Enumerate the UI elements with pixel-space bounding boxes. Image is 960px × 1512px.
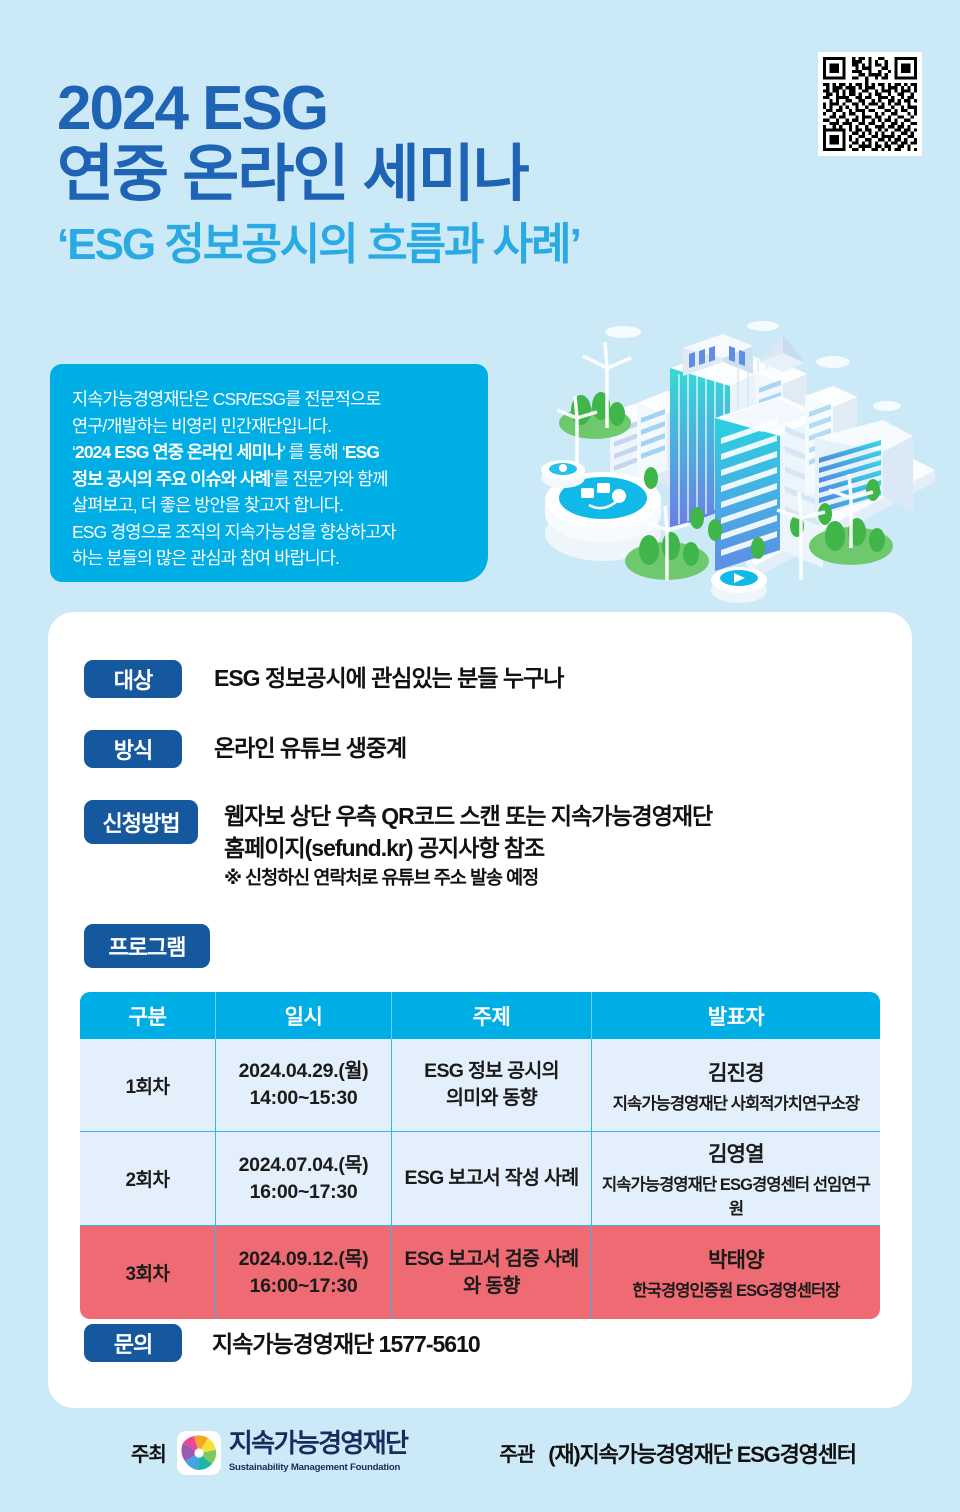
intro-connector: ’ 를 통해 ‘ [282, 442, 345, 462]
session-no: 2회차 [84, 1165, 211, 1192]
info-method-value: 온라인 유튜브 생중계 [214, 732, 406, 764]
cell-date: 2024.09.12.(목) 16:00~17:30 [216, 1226, 392, 1319]
footer-host-group: 주최 지속가능경영재단 Sustainability Management Fo… [131, 1430, 407, 1475]
session-no: 1회차 [84, 1072, 211, 1099]
organizer-name: (재)지속가능경영재단 ESG경영센터 [548, 1437, 856, 1469]
intro-topic-rest: 정보 공시의 주요 이슈와 사례 [72, 469, 270, 489]
info-target-value-wrap: ESG 정보공시에 관심있는 분들 누구나 [214, 660, 563, 694]
session-topic-line1: ESG 보고서 검증 사례와 동향 [396, 1246, 587, 1300]
cell-speaker: 김진경 지속가능경영재단 사회적가치연구소장 [592, 1039, 880, 1132]
info-row-apply: 신청방법 웹자보 상단 우측 QR코드 스캔 또는 지속가능경영재단 홈페이지(… [84, 800, 712, 892]
info-target-value: ESG 정보공시에 관심있는 분들 누구나 [214, 662, 563, 694]
cell-session-no: 1회차 [80, 1039, 216, 1132]
intro-line: ESG 경영으로 조직의 지속가능성을 향상하고자 [72, 519, 468, 546]
cell-topic: ESG 보고서 검증 사례와 동향 [392, 1226, 592, 1319]
details-card: 대상 ESG 정보공시에 관심있는 분들 누구나 방식 온라인 유튜브 생중계 … [48, 612, 912, 1408]
column-header-topic: 주제 [392, 992, 592, 1039]
qr-code[interactable] [818, 52, 922, 156]
intro-line-emphasis: ‘2024 ESG 연중 온라인 세미나’ 를 통해 ‘ESG [72, 439, 468, 466]
table-row: 2회차 2024.07.04.(목) 16:00~17:30 ESG 보고서 작… [80, 1132, 880, 1226]
info-row-contact: 문의 지속가능경영재단 1577-5610 [84, 1324, 480, 1362]
cell-date: 2024.04.29.(월) 14:00~15:30 [216, 1039, 392, 1132]
session-topic-line2: 의미와 동향 [396, 1085, 587, 1112]
column-header-no: 구분 [80, 992, 216, 1039]
footer: 주최 지속가능경영재단 Sustainability Management Fo… [0, 1430, 960, 1475]
speaker-affiliation: 한국경영인증원 ESG경영센터장 [596, 1277, 876, 1301]
foundation-logo-text: 지속가능경영재단 Sustainability Management Found… [229, 1430, 408, 1475]
table-row: 1회차 2024.04.29.(월) 14:00~15:30 ESG 정보 공시… [80, 1039, 880, 1132]
intro-box: 지속가능경영재단은 CSR/ESG를 전문적으로 연구/개발하는 비영리 민간재… [50, 364, 488, 582]
intro-line: 살펴보고, 더 좋은 방안을 찾고자 합니다. [72, 492, 468, 519]
footer-organizer-group: 주관 (재)지속가능경영재단 ESG경영센터 [499, 1437, 855, 1469]
title-line-2: 연중 온라인 세미나 [57, 142, 580, 208]
cell-session-no: 2회차 [80, 1132, 216, 1226]
badge-contact: 문의 [84, 1324, 182, 1362]
intro-line: 하는 분들의 많은 관심과 참여 바랍니다. [72, 545, 468, 572]
intro-seminar-name: 2024 ESG 연중 온라인 세미나 [75, 442, 282, 462]
badge-apply: 신청방법 [84, 800, 198, 844]
session-topic-line1: ESG 정보 공시의 [396, 1058, 587, 1085]
table-row-highlighted: 3회차 2024.09.12.(목) 16:00~17:30 ESG 보고서 검… [80, 1226, 880, 1319]
badge-target: 대상 [84, 660, 182, 698]
smart-city-illustration [515, 318, 945, 608]
session-no: 3회차 [84, 1259, 211, 1286]
info-contact-value-wrap: 지속가능경영재단 1577-5610 [212, 1324, 480, 1360]
info-apply-line2: 홈페이지(sefund.kr) 공지사항 참조 [224, 832, 712, 864]
session-time: 16:00~17:30 [220, 1273, 387, 1300]
cell-speaker: 김영열 지속가능경영재단 ESG경영센터 선임연구원 [592, 1132, 880, 1226]
foundation-name-ko: 지속가능경영재단 [229, 1428, 408, 1458]
column-header-date: 일시 [216, 992, 392, 1039]
speaker-affiliation: 지속가능경영재단 사회적가치연구소장 [596, 1090, 876, 1114]
session-date: 2024.09.12.(목) [220, 1246, 387, 1273]
speaker-name: 김영열 [596, 1138, 876, 1168]
foundation-name-en: Sustainability Management Foundation [229, 1462, 400, 1473]
poster-root: 2024 ESG 연중 온라인 세미나 ‘ESG 정보공시의 흐름과 사례’ 지… [0, 0, 960, 1512]
pinwheel-flower-icon [177, 1431, 221, 1475]
isometric-city-icon [515, 318, 945, 608]
session-date: 2024.07.04.(목) [220, 1152, 387, 1179]
info-contact-value: 지속가능경영재단 1577-5610 [212, 1328, 480, 1360]
badge-method: 방식 [84, 730, 182, 768]
cell-session-no: 3회차 [80, 1226, 216, 1319]
intro-topic-head: ESG [345, 442, 379, 462]
intro-line-emphasis: 정보 공시의 주요 이슈와 사례’를 전문가와 함께 [72, 466, 468, 493]
speaker-name: 김진경 [596, 1057, 876, 1087]
info-method-value-wrap: 온라인 유튜브 생중계 [214, 730, 406, 764]
table-header-row: 구분 일시 주제 발표자 [80, 992, 880, 1039]
title-line-1: 2024 ESG [57, 76, 580, 142]
page-title: 2024 ESG 연중 온라인 세미나 ‘ESG 정보공시의 흐름과 사례’ [57, 76, 580, 270]
cell-speaker: 박태양 한국경영인증원 ESG경영센터장 [592, 1226, 880, 1319]
session-time: 14:00~15:30 [220, 1085, 387, 1112]
intro-line: 연구/개발하는 비영리 민간재단입니다. [72, 413, 468, 440]
session-topic-line1: ESG 보고서 작성 사례 [396, 1165, 587, 1192]
cell-date: 2024.07.04.(목) 16:00~17:30 [216, 1132, 392, 1226]
info-apply-note: ※ 신청하신 연락처로 유튜브 주소 발송 예정 [224, 864, 712, 892]
column-header-speaker: 발표자 [592, 992, 880, 1039]
program-table: 구분 일시 주제 발표자 1회차 2024.04.29.(월) 14:00~15… [80, 992, 880, 1319]
info-apply-value-wrap: 웹자보 상단 우측 QR코드 스캔 또는 지속가능경영재단 홈페이지(sefun… [224, 800, 712, 892]
intro-line: 지속가능경영재단은 CSR/ESG를 전문적으로 [72, 386, 468, 413]
organizer-label: 주관 [499, 1438, 534, 1467]
info-row-method: 방식 온라인 유튜브 생중계 [84, 730, 406, 768]
cell-topic: ESG 보고서 작성 사례 [392, 1132, 592, 1226]
intro-topic-tail: ’를 전문가와 함께 [270, 469, 387, 489]
cell-topic: ESG 정보 공시의 의미와 동향 [392, 1039, 592, 1132]
page-subtitle: ‘ESG 정보공시의 흐름과 사례’ [57, 220, 580, 270]
host-label: 주최 [131, 1438, 166, 1467]
session-date: 2024.04.29.(월) [220, 1058, 387, 1085]
speaker-affiliation: 지속가능경영재단 ESG경영센터 선임연구원 [596, 1171, 876, 1219]
foundation-logo-icon [177, 1431, 221, 1475]
qr-code-icon [823, 57, 917, 151]
badge-program: 프로그램 [84, 924, 210, 968]
info-apply-line1: 웹자보 상단 우측 QR코드 스캔 또는 지속가능경영재단 [224, 800, 712, 832]
info-row-target: 대상 ESG 정보공시에 관심있는 분들 누구나 [84, 660, 563, 698]
speaker-name: 박태양 [596, 1244, 876, 1274]
session-time: 16:00~17:30 [220, 1179, 387, 1206]
